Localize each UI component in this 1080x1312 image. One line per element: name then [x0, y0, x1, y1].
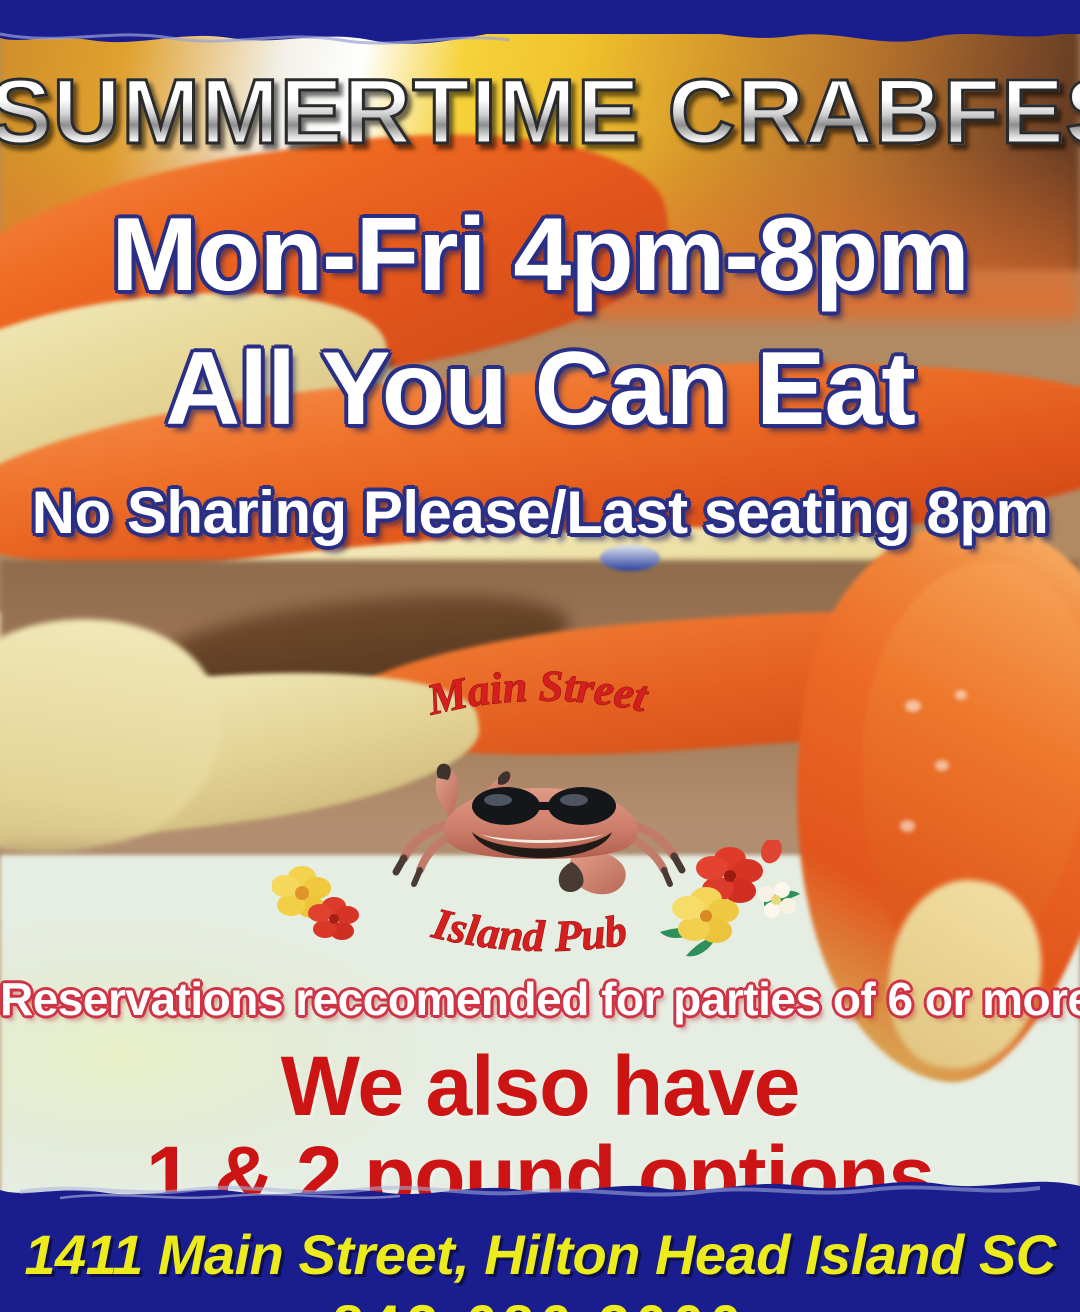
brush-edge-icon [0, 20, 1080, 54]
logo-top-text: Main Street [422, 662, 654, 725]
hibiscus-flower-left-icon [272, 865, 362, 945]
shell-highlight [935, 760, 949, 771]
address-line: 1411 Main Street, Hilton Head Island SC [0, 1222, 1080, 1287]
crab-mascot-icon [376, 762, 706, 902]
logo-bottom-text: Island Pub [427, 898, 630, 961]
all-you-can-eat-line: All You Can Eat [0, 330, 1080, 449]
shell-highlight [900, 820, 915, 832]
page-title: SUMMERTIME CRABFEST [0, 60, 1080, 165]
brush-edge-icon [0, 1170, 1080, 1204]
hours-line: Mon-Fri 4pm-8pm [0, 196, 1080, 315]
shell-highlight [905, 700, 921, 712]
hibiscus-flower-right-icon [660, 840, 810, 960]
top-blue-banner [0, 0, 1080, 34]
reservations-line: Reservations reccomended for parties of … [0, 972, 1080, 1026]
main-street-island-pub-logo: Main Street Island Pub [280, 700, 800, 960]
blue-detail [600, 545, 660, 571]
crabfest-poster: SUMMERTIME CRABFEST Mon-Fri 4pm-8pm All … [0, 0, 1080, 1312]
rules-line: No Sharing Please/Last seating 8pm [0, 478, 1080, 547]
we-also-have-line: We also have [0, 1038, 1080, 1135]
shell-highlight [955, 690, 967, 700]
phone-line: 843 686 3000 [0, 1292, 1080, 1312]
